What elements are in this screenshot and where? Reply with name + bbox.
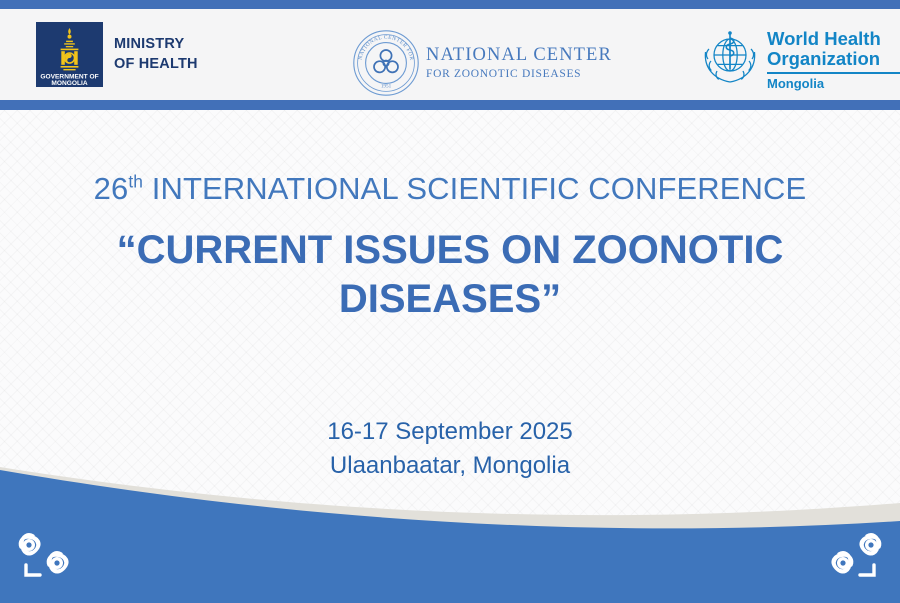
who-name-line-2: Organization: [767, 49, 900, 69]
who-wordmark: World Health Organization Mongolia: [767, 29, 900, 91]
who-country-label: Mongolia: [767, 76, 900, 91]
who-name-line-1: World Health: [767, 29, 900, 49]
theme-line-1: “CURRENT ISSUES ON ZOONOTIC: [70, 226, 830, 275]
emblem-caption-line2: MONGOLIA: [51, 80, 88, 87]
theme-line-2: DISEASES”: [70, 275, 830, 324]
triquetra-knot-ornament-left: [14, 525, 94, 585]
seal-year: 1951: [381, 83, 392, 89]
ministry-name-line-2: OF HEALTH: [114, 55, 198, 74]
conference-ordinal-suffix: th: [128, 172, 143, 192]
nczd-seal-icon: NATIONAL CENTER FOR ZOONOTIC DISEASES 19…: [352, 29, 420, 97]
national-center-name: NATIONAL CENTER FOR ZOONOTIC DISEASES: [426, 45, 612, 81]
who-emblem-icon: [700, 27, 760, 87]
mongolia-government-emblem-icon: GOVERNMENT OF MONGOLIA: [36, 22, 103, 87]
conference-heading: 26th INTERNATIONAL SCIENTIFIC CONFERENCE: [0, 172, 900, 206]
national-center-logo: NATIONAL CENTER FOR ZOONOTIC DISEASES 19…: [352, 29, 612, 97]
header-divider-bar: [0, 100, 900, 110]
logo-row: GOVERNMENT OF MONGOLIA MINISTRY OF HEALT…: [0, 9, 900, 100]
nczd-name-line-1: NATIONAL CENTER: [426, 45, 612, 66]
nczd-name-line-2: FOR ZOONOTIC DISEASES: [426, 68, 612, 81]
title-block: 26th INTERNATIONAL SCIENTIFIC CONFERENCE…: [0, 110, 900, 324]
top-accent-bar: [0, 0, 900, 9]
triquetra-knot-ornament-right: [806, 525, 886, 585]
ministry-of-health-name: MINISTRY OF HEALTH: [114, 35, 198, 73]
conference-ordinal: 26: [94, 171, 129, 206]
ministry-of-health-logo: GOVERNMENT OF MONGOLIA MINISTRY OF HEALT…: [36, 22, 198, 87]
conference-heading-text: INTERNATIONAL SCIENTIFIC CONFERENCE: [143, 171, 806, 206]
ministry-name-line-1: MINISTRY: [114, 35, 198, 54]
svg-text:NATIONAL CENTER FOR ZOONOTIC D: NATIONAL CENTER FOR ZOONOTIC DISEASES: [352, 29, 414, 63]
conference-title-slide: GOVERNMENT OF MONGOLIA MINISTRY OF HEALT…: [0, 0, 900, 603]
who-underline-rule: [767, 72, 900, 74]
who-logo: World Health Organization Mongolia: [700, 27, 900, 91]
conference-theme: “CURRENT ISSUES ON ZOONOTIC DISEASES”: [0, 226, 900, 324]
